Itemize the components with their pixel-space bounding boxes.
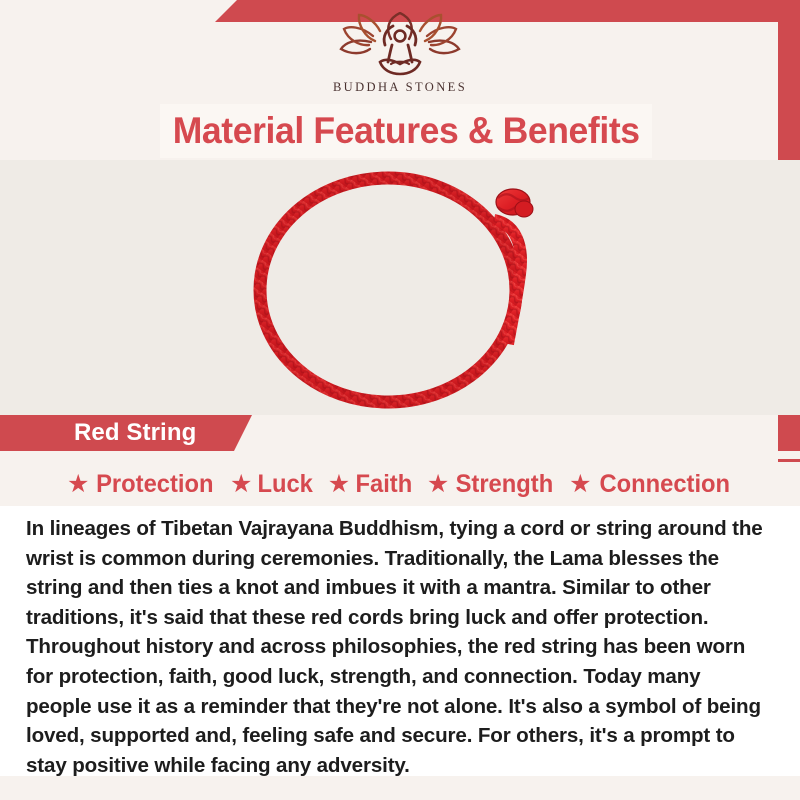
description-area: In lineages of Tibetan Vajrayana Buddhis…	[0, 506, 800, 776]
brand-wordmark: BUDDHA STONES	[333, 80, 467, 95]
page-title: Material Features & Benefits	[173, 110, 640, 152]
feature-benefits-row: ★ Protection ★ Luck ★ Faith ★ Strength ★…	[0, 462, 800, 506]
feature-label: Connection	[599, 470, 730, 499]
feature-label: Luck	[258, 470, 313, 499]
product-image-area	[0, 160, 800, 415]
star-icon: ★	[569, 472, 591, 497]
feature-item: ★ Luck	[230, 470, 315, 499]
star-icon: ★	[67, 472, 89, 497]
star-icon: ★	[328, 472, 350, 497]
brand-header: BUDDHA STONES	[0, 0, 800, 110]
product-infographic-poster: BUDDHA STONES Material Features & Benefi…	[0, 0, 800, 800]
feature-item: ★ Strength	[427, 470, 556, 499]
feature-item: ★ Faith	[328, 470, 414, 499]
feature-label: Strength	[456, 470, 554, 499]
feature-item: ★ Protection	[67, 470, 217, 499]
feature-item: ★ Connection	[569, 470, 733, 499]
red-braided-cord-bracelet	[232, 162, 568, 415]
description-text: In lineages of Tibetan Vajrayana Buddhis…	[26, 514, 770, 780]
footer-spacer	[0, 776, 800, 800]
band-spacer	[0, 451, 800, 459]
title-banner: Material Features & Benefits	[160, 104, 652, 158]
star-icon: ★	[427, 472, 449, 497]
material-name: Red String	[74, 419, 196, 447]
feature-label: Faith	[356, 470, 413, 499]
lotus-meditation-icon	[335, 12, 465, 78]
star-icon: ★	[230, 472, 252, 497]
feature-label: Protection	[96, 470, 213, 499]
material-name-band: Red String	[22, 415, 252, 451]
